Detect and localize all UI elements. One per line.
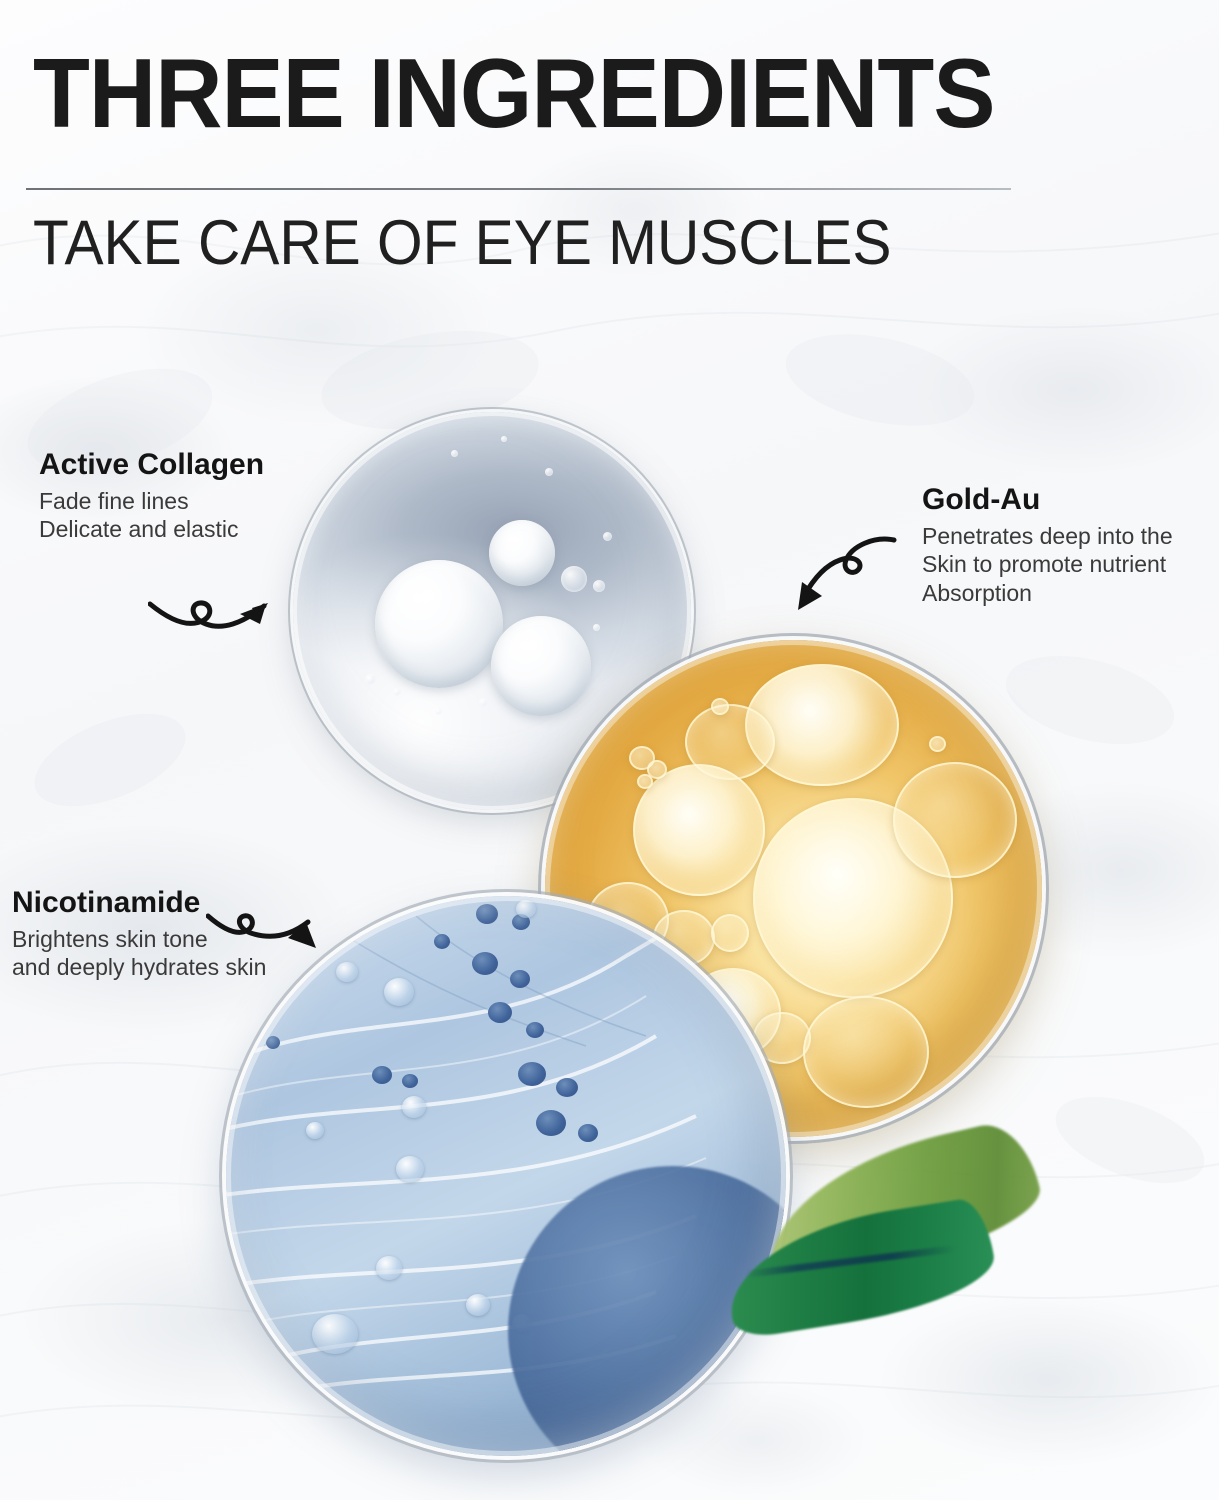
gel-microbubble bbox=[365, 674, 376, 685]
gel-microbubble bbox=[603, 532, 612, 541]
gel-microbubble bbox=[545, 468, 553, 476]
curly-arrow-up-right-icon bbox=[148, 570, 288, 650]
gel-microbubble bbox=[593, 580, 605, 592]
page-title: THREE INGREDIENTS bbox=[33, 44, 995, 142]
gold-bubble-micro bbox=[711, 698, 729, 715]
ingredient-name: Gold-Au bbox=[922, 483, 1173, 517]
gel-microbubble bbox=[393, 688, 401, 696]
gel-bubble-large bbox=[375, 560, 503, 688]
curly-arrow-down-left-icon bbox=[788, 534, 908, 624]
gel-microbubble bbox=[561, 566, 587, 592]
disc-rim-gloss bbox=[226, 896, 786, 1456]
curly-arrow-down-right-icon bbox=[206, 896, 326, 976]
gel-bubble-small bbox=[489, 520, 555, 586]
gel-microbubble bbox=[435, 708, 442, 715]
ingredient-description: Penetrates deep into the Skin to promote… bbox=[922, 522, 1173, 608]
title-divider bbox=[26, 188, 1011, 190]
gel-microbubble bbox=[451, 450, 458, 457]
annotation-active-collagen: Active Collagen Fade fine lines Delicate… bbox=[39, 448, 264, 544]
annotation-gold-au: Gold-Au Penetrates deep into the Skin to… bbox=[922, 483, 1173, 608]
gel-microbubble bbox=[479, 698, 488, 707]
page-subtitle: TAKE CARE OF EYE MUSCLES bbox=[33, 212, 891, 275]
gold-bubble-micro bbox=[929, 736, 946, 752]
gel-microbubble bbox=[593, 624, 600, 631]
gel-bubble-medium bbox=[491, 616, 591, 716]
ingredient-image-nicotinamide bbox=[226, 896, 786, 1456]
ingredient-name: Active Collagen bbox=[39, 448, 264, 482]
gel-microbubble bbox=[501, 436, 507, 442]
ingredient-description: Fade fine lines Delicate and elastic bbox=[39, 487, 264, 545]
gold-bubble-micro bbox=[637, 774, 653, 789]
gold-bubble-right bbox=[893, 762, 1017, 878]
gold-bubble-left bbox=[633, 764, 765, 896]
gold-bubble-bottom-right bbox=[803, 996, 929, 1108]
